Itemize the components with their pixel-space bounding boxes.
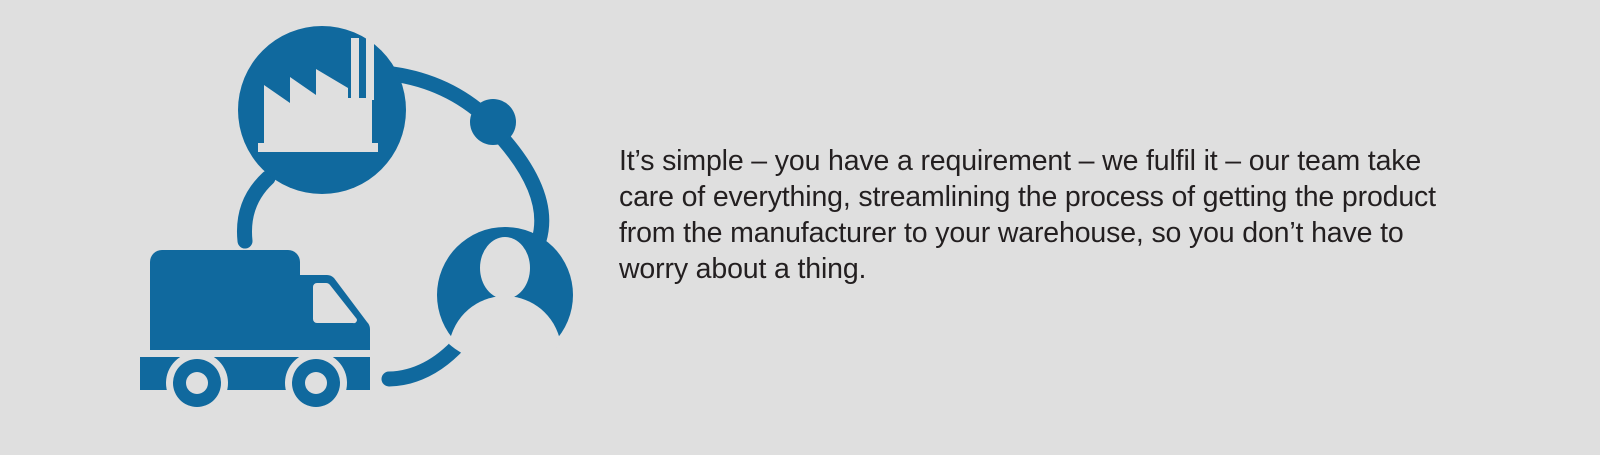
factory-chimney-left [351, 38, 359, 100]
connector-factory-to-truck [244, 178, 268, 241]
truck-cargo-box [150, 250, 300, 350]
factory-base-line [258, 143, 378, 152]
body-copy: It’s simple – you have a requirement – w… [619, 143, 1519, 287]
factory-icon [238, 26, 406, 194]
supply-chain-svg [0, 0, 620, 450]
truck-wheel-rear-hub [186, 372, 208, 394]
supply-chain-graphic [0, 0, 620, 450]
connector-person-to-truck [389, 343, 460, 379]
copy-line-4: worry about a thing. [619, 251, 1519, 287]
connector-node-icon [470, 99, 516, 145]
factory-chimney-right [366, 30, 374, 100]
copy-line-2: care of everything, streamlining the pro… [619, 179, 1519, 215]
truck-wheel-front-hub [305, 372, 327, 394]
person-icon [437, 227, 573, 364]
person-head [480, 237, 530, 299]
copy-line-3: from the manufacturer to your warehouse,… [619, 215, 1519, 251]
page-root: It’s simple – you have a requirement – w… [0, 0, 1600, 450]
copy-line-1: It’s simple – you have a requirement – w… [619, 143, 1519, 179]
connector-node-to-person [504, 140, 542, 240]
delivery-truck-icon [140, 250, 370, 414]
factory-main-block [348, 98, 372, 148]
